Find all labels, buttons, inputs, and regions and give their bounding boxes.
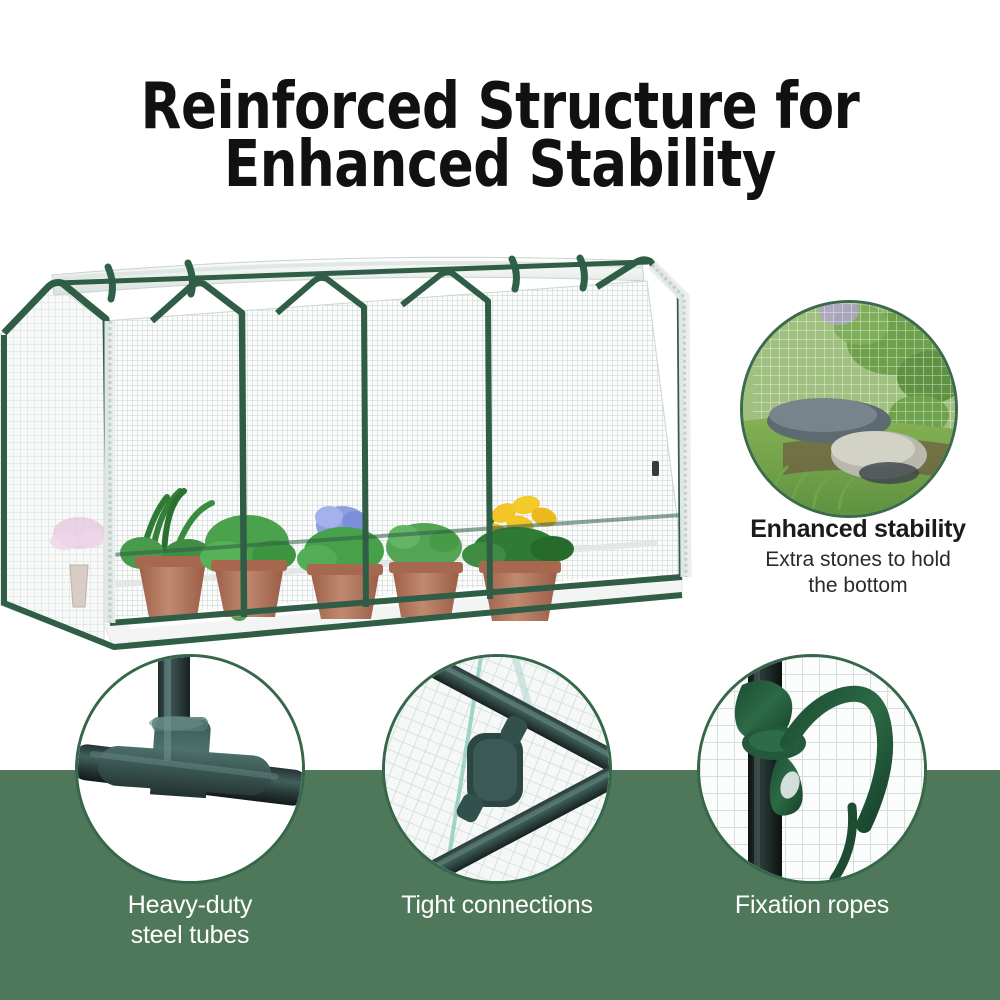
cross-brace-connection-icon: [385, 657, 609, 881]
feature-caption-line-1: Fixation ropes: [662, 890, 962, 920]
stones-photo-circle: [740, 300, 958, 518]
feature-caption-line-1: Heavy-duty: [40, 890, 340, 920]
page-title-line-2: Enhanced Stability: [40, 136, 960, 194]
feature-caption-line-1: Tight connections: [347, 890, 647, 920]
feature-caption: Fixation ropes: [662, 890, 962, 920]
feature-caption-line-2: steel tubes: [40, 920, 340, 950]
green-tie-rope-knot-icon: [700, 657, 924, 881]
feature-caption: Heavy-duty steel tubes: [40, 890, 340, 950]
feature-caption: Tight connections: [347, 890, 647, 920]
tee-joint-steel-tube-icon: [78, 657, 302, 881]
cross-brace-photo-circle: [382, 654, 612, 884]
greenhouse-product-image: [0, 225, 692, 650]
tee-joint-photo-circle: [75, 654, 305, 884]
callout-subtitle: Extra stones to hold the bottom: [708, 547, 1000, 599]
stones-on-ground-icon: [743, 303, 955, 515]
page-title: Reinforced Structure for Enhanced Stabil…: [40, 78, 960, 194]
product-feature-poster: Reinforced Structure for Enhanced Stabil…: [0, 0, 1000, 1000]
greenhouse-illustration: [0, 225, 692, 650]
callout-title: Enhanced stability: [708, 515, 1000, 544]
callout-subtitle-line-2: the bottom: [708, 573, 1000, 599]
callout-subtitle-line-1: Extra stones to hold: [708, 547, 1000, 573]
fixation-rope-photo-circle: [697, 654, 927, 884]
